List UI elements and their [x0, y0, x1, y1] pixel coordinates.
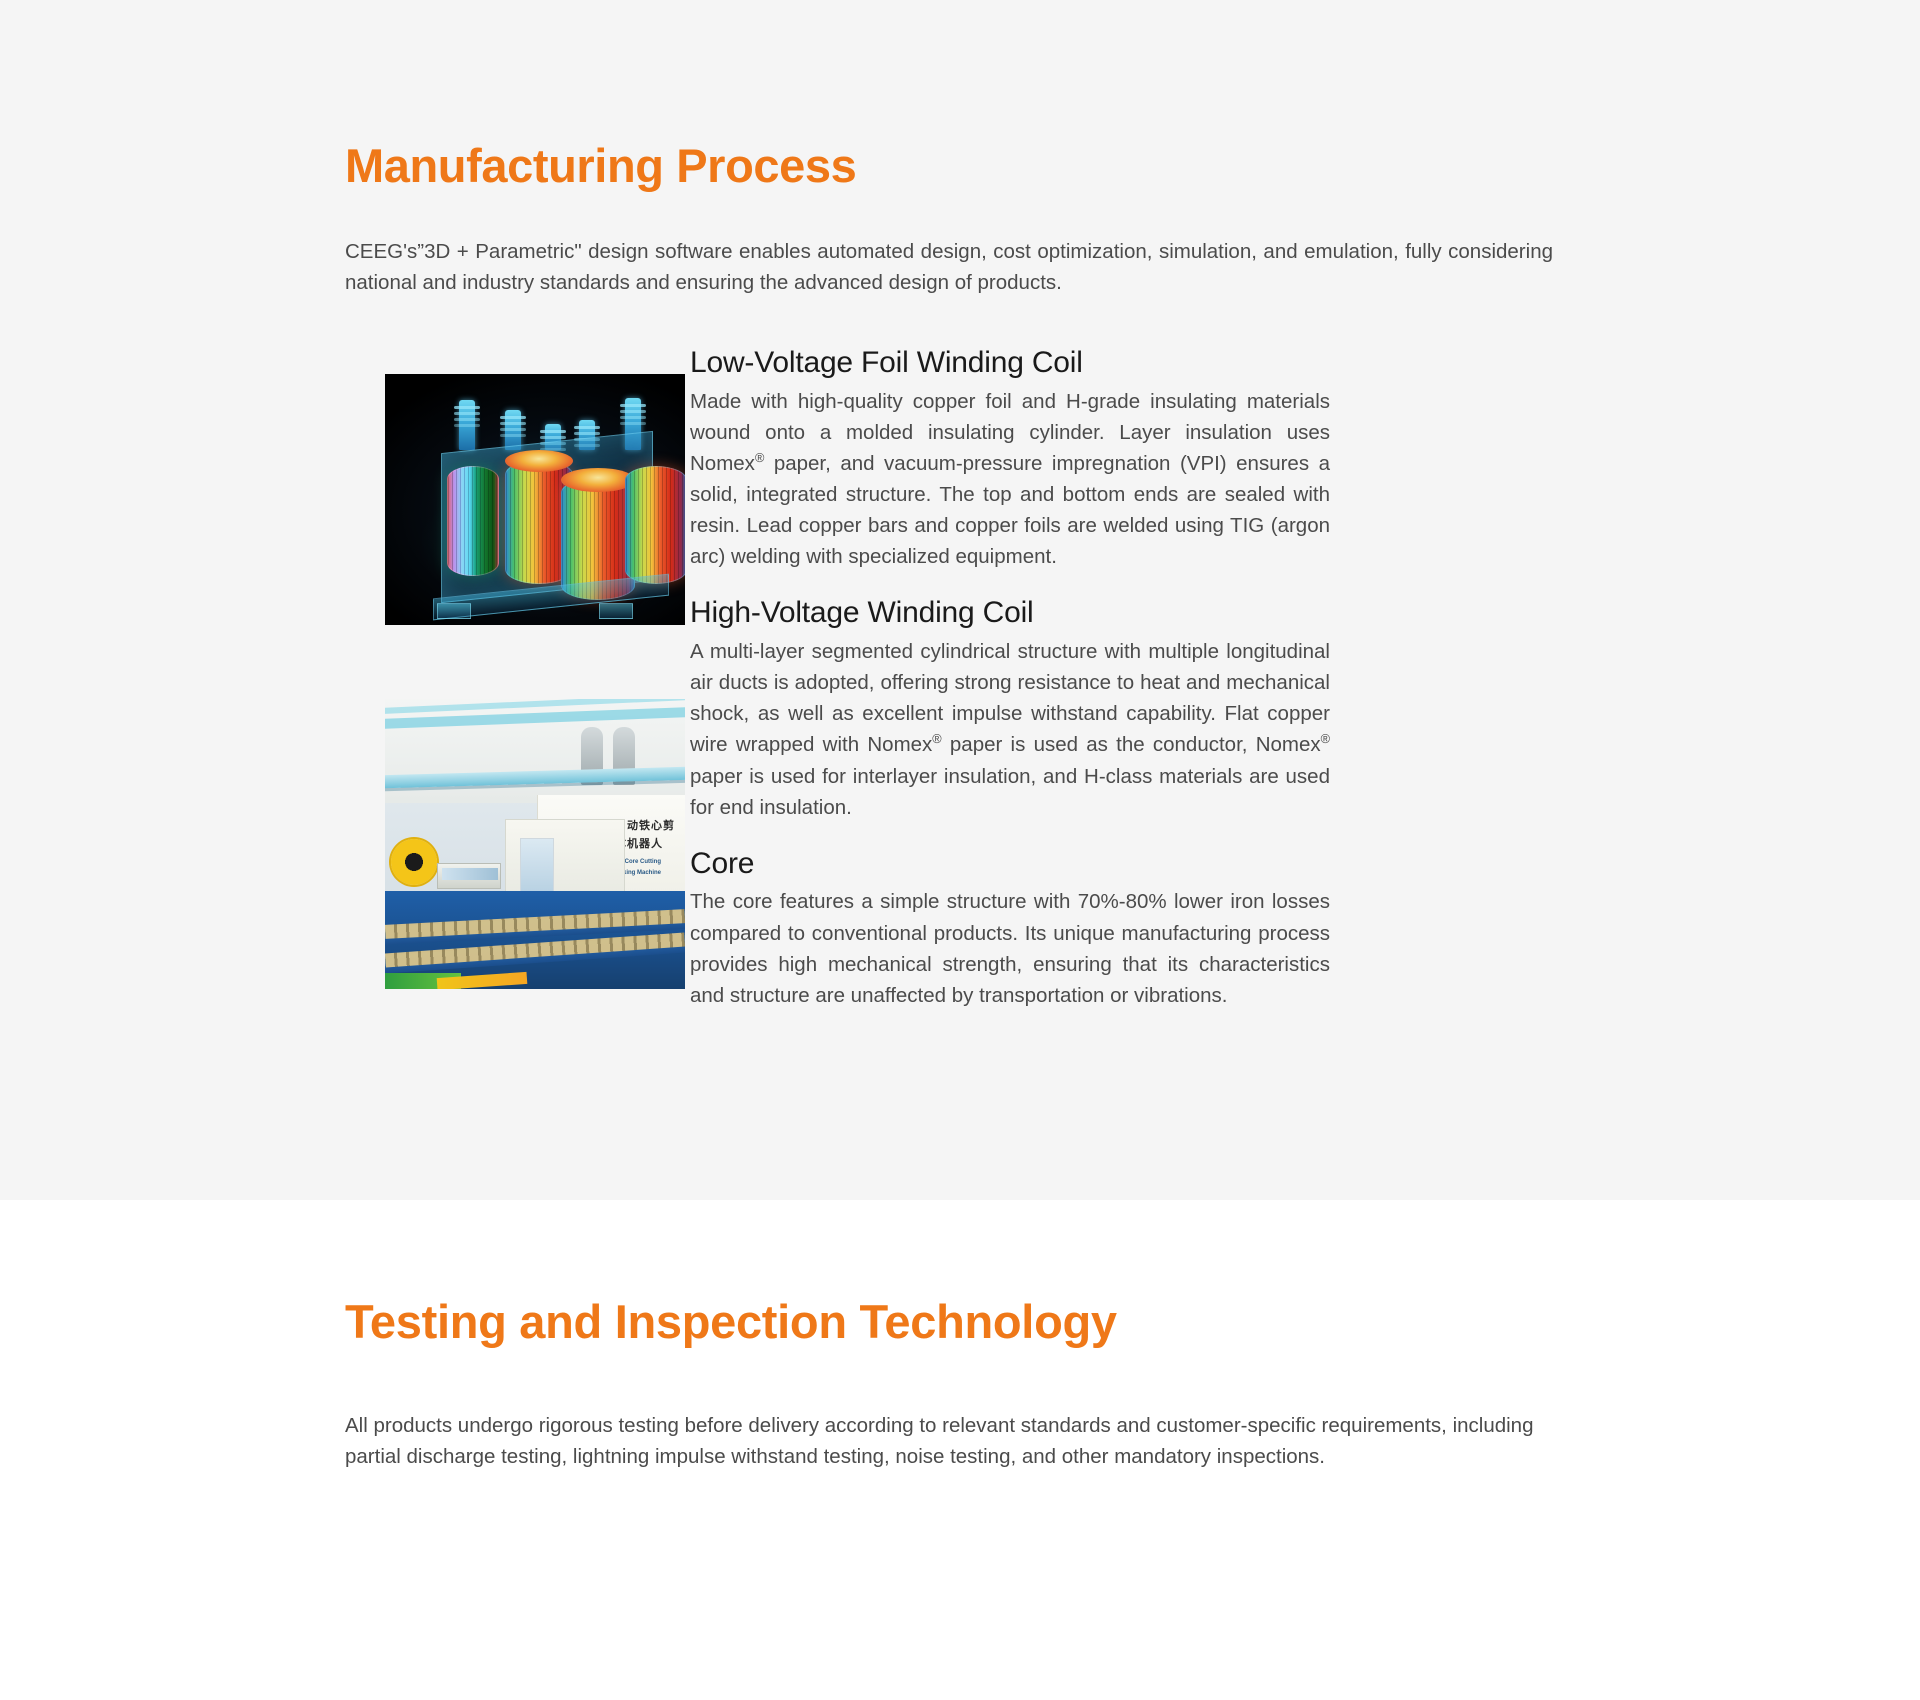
machine-window: [520, 838, 554, 892]
block-title-core: Core: [690, 845, 1575, 883]
block-body-high-voltage-winding-coil: A multi-layer segmented cylindrical stru…: [690, 636, 1330, 823]
block-title-high-voltage-winding-coil: High-Voltage Winding Coil: [690, 594, 1575, 632]
registered-trademark-icon: ®: [1321, 732, 1330, 747]
block-core: Core The core features a simple structur…: [690, 845, 1575, 1011]
testing-inspection-heading: Testing and Inspection Technology: [345, 1200, 1575, 1348]
testing-inspection-section: Testing and Inspection Technology All pr…: [0, 1200, 1920, 1592]
winding-coil-heatmap: [625, 466, 685, 584]
coil-cap-top: [561, 468, 635, 492]
body-text-part: paper, and vacuum-pressure impregnation …: [690, 452, 1330, 568]
transformer-foot: [437, 603, 471, 619]
bushing-icon: [459, 400, 475, 450]
block-body-core: The core features a simple structure wit…: [690, 886, 1330, 1011]
manufacturing-inner-container: Manufacturing Process CEEG's”3D + Parame…: [345, 0, 1575, 1011]
block-title-low-voltage-foil-winding-coil: Low-Voltage Foil Winding Coil: [690, 344, 1575, 382]
manufacturing-text-column: Low-Voltage Foil Winding Coil Made with …: [645, 344, 1575, 1011]
block-low-voltage-foil-winding-coil: Low-Voltage Foil Winding Coil Made with …: [690, 344, 1575, 572]
coil-cap-top: [505, 450, 573, 472]
testing-inspection-paragraph: All products undergo rigorous testing be…: [345, 1410, 1553, 1472]
registered-trademark-icon: ®: [755, 450, 764, 465]
page-root: Manufacturing Process CEEG's”3D + Parame…: [0, 0, 1920, 1700]
body-text-part: paper is used as the conductor, Nomex: [942, 733, 1321, 756]
transformer-foot: [599, 603, 633, 619]
manufacturing-process-heading: Manufacturing Process: [345, 0, 1575, 192]
testing-inner-container: Testing and Inspection Technology All pr…: [345, 1200, 1575, 1472]
operator-console: [437, 863, 501, 889]
manufacturing-process-section: Manufacturing Process CEEG's”3D + Parame…: [0, 0, 1920, 1200]
winding-coil-heatmap: [447, 466, 499, 576]
manufacturing-media-column: 全自动铁心剪 一体机器人 Automatic Core Cutting and …: [345, 344, 645, 1005]
steel-coil-reel: [391, 839, 437, 885]
transformer-thermal-simulation-image: [385, 374, 685, 625]
body-text-part: paper is used for interlayer insulation,…: [690, 765, 1330, 819]
block-high-voltage-winding-coil: High-Voltage Winding Coil A multi-layer …: [690, 594, 1575, 822]
block-body-low-voltage-foil-winding-coil: Made with high-quality copper foil and H…: [690, 386, 1330, 573]
manufacturing-intro-paragraph: CEEG's”3D + Parametric" design software …: [345, 236, 1553, 298]
manufacturing-content-row: 全自动铁心剪 一体机器人 Automatic Core Cutting and …: [345, 344, 1575, 1011]
automatic-core-cutting-and-stacking-machine-image: 全自动铁心剪 一体机器人 Automatic Core Cutting and …: [385, 699, 685, 989]
registered-trademark-icon: ®: [932, 732, 941, 747]
body-text-part: The core features a simple structure wit…: [690, 890, 1330, 1006]
